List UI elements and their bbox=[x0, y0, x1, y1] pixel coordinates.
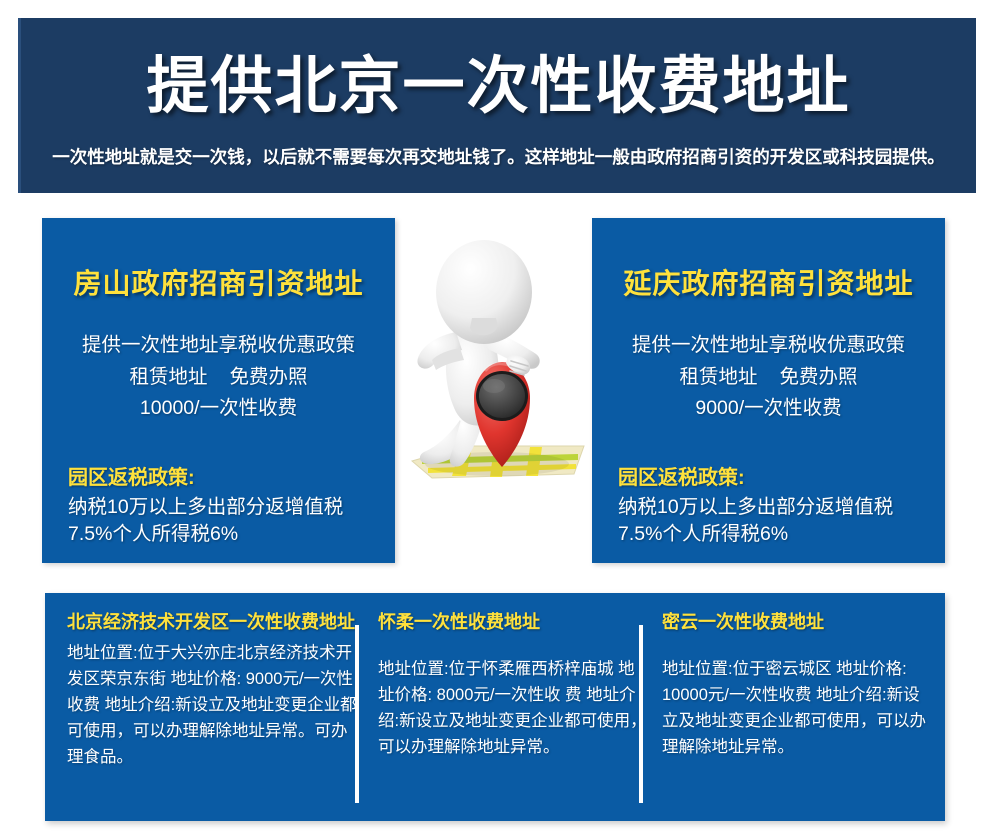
feature-price: 9000/一次性收费 bbox=[592, 393, 945, 425]
feature-line-2: 租赁地址免费办照 bbox=[42, 362, 395, 394]
policy-block: 园区返税政策: 纳税10万以上多出部分返增值税 7.5%个人所得税6% bbox=[592, 461, 945, 549]
address-column-title: 怀柔一次性收费地址 bbox=[378, 611, 650, 634]
3d-person-with-map-pin-icon bbox=[402, 220, 592, 492]
policy-line-1: 纳税10万以上多出部分返增值税 bbox=[68, 494, 379, 522]
feature-line-1: 提供一次性地址享税收优惠政策 bbox=[592, 330, 945, 362]
column-divider bbox=[355, 625, 359, 803]
header-banner: 提供北京一次性收费地址 一次性地址就是交一次钱，以后就不需要每次再交地址钱了。这… bbox=[18, 18, 976, 193]
address-column-bda[interactable]: 北京经济技术开发区一次性收费地址 地址位置:位于大兴亦庄北京经济技术开发区荣京东… bbox=[67, 611, 357, 770]
address-column-huairou[interactable]: 怀柔一次性收费地址 地址位置:位于怀柔雁西桥梓庙城 地址价格: 8000元/一次… bbox=[378, 611, 650, 760]
feature-line-2b: 免费办照 bbox=[780, 366, 858, 388]
column-divider bbox=[639, 625, 643, 803]
feature-cards-row: 房山政府招商引资地址 提供一次性地址享税收优惠政策 租赁地址免费办照 10000… bbox=[0, 218, 994, 568]
policy-line-1: 纳税10万以上多出部分返增值税 bbox=[618, 494, 929, 522]
feature-line-2a: 租赁地址 bbox=[679, 366, 757, 388]
address-column-body: 地址位置:位于怀柔雁西桥梓庙城 地址价格: 8000元/一次性收 费 地址介绍:… bbox=[378, 656, 650, 760]
feature-card-yanqing[interactable]: 延庆政府招商引资地址 提供一次性地址享税收优惠政策 租赁地址免费办照 9000/… bbox=[592, 218, 945, 563]
banner-subtitle: 一次性地址就是交一次钱，以后就不需要每次再交地址钱了。这样地址一般由政府招商引资… bbox=[21, 144, 976, 169]
address-column-body: 地址位置:位于大兴亦庄北京经济技术开发区荣京东街 地址价格: 9000元/一次性… bbox=[67, 640, 357, 770]
feature-card-lines: 提供一次性地址享税收优惠政策 租赁地址免费办照 9000/一次性收费 bbox=[592, 330, 945, 425]
feature-line-1: 提供一次性地址享税收优惠政策 bbox=[42, 330, 395, 362]
feature-line-2b: 免费办照 bbox=[230, 366, 308, 388]
policy-title: 园区返税政策: bbox=[68, 461, 379, 490]
feature-card-heading: 房山政府招商引资地址 bbox=[42, 262, 395, 302]
page-title: 提供北京一次性收费地址 bbox=[21, 54, 976, 119]
policy-text: 纳税10万以上多出部分返增值税 7.5%个人所得税6% bbox=[68, 494, 379, 549]
policy-line-2: 7.5%个人所得税6% bbox=[618, 521, 929, 549]
feature-line-2a: 租赁地址 bbox=[129, 366, 207, 388]
address-column-title: 密云一次性收费地址 bbox=[662, 611, 934, 634]
feature-line-2: 租赁地址免费办照 bbox=[592, 362, 945, 394]
address-column-miyun[interactable]: 密云一次性收费地址 地址位置:位于密云城区 地址价格: 10000元/一次性收费… bbox=[662, 611, 934, 760]
address-list-panel: 北京经济技术开发区一次性收费地址 地址位置:位于大兴亦庄北京经济技术开发区荣京东… bbox=[45, 593, 945, 821]
feature-card-heading: 延庆政府招商引资地址 bbox=[592, 262, 945, 302]
feature-card-lines: 提供一次性地址享税收优惠政策 租赁地址免费办照 10000/一次性收费 bbox=[42, 330, 395, 425]
address-column-title: 北京经济技术开发区一次性收费地址 bbox=[67, 611, 357, 634]
feature-card-fangshan[interactable]: 房山政府招商引资地址 提供一次性地址享税收优惠政策 租赁地址免费办照 10000… bbox=[42, 218, 395, 563]
policy-title: 园区返税政策: bbox=[618, 461, 929, 490]
policy-text: 纳税10万以上多出部分返增值税 7.5%个人所得税6% bbox=[618, 494, 929, 549]
feature-price: 10000/一次性收费 bbox=[42, 393, 395, 425]
policy-block: 园区返税政策: 纳税10万以上多出部分返增值税 7.5%个人所得税6% bbox=[42, 461, 395, 549]
address-column-body: 地址位置:位于密云城区 地址价格: 10000元/一次性收费 地址介绍:新设立及… bbox=[662, 656, 934, 760]
policy-line-2: 7.5%个人所得税6% bbox=[68, 521, 379, 549]
